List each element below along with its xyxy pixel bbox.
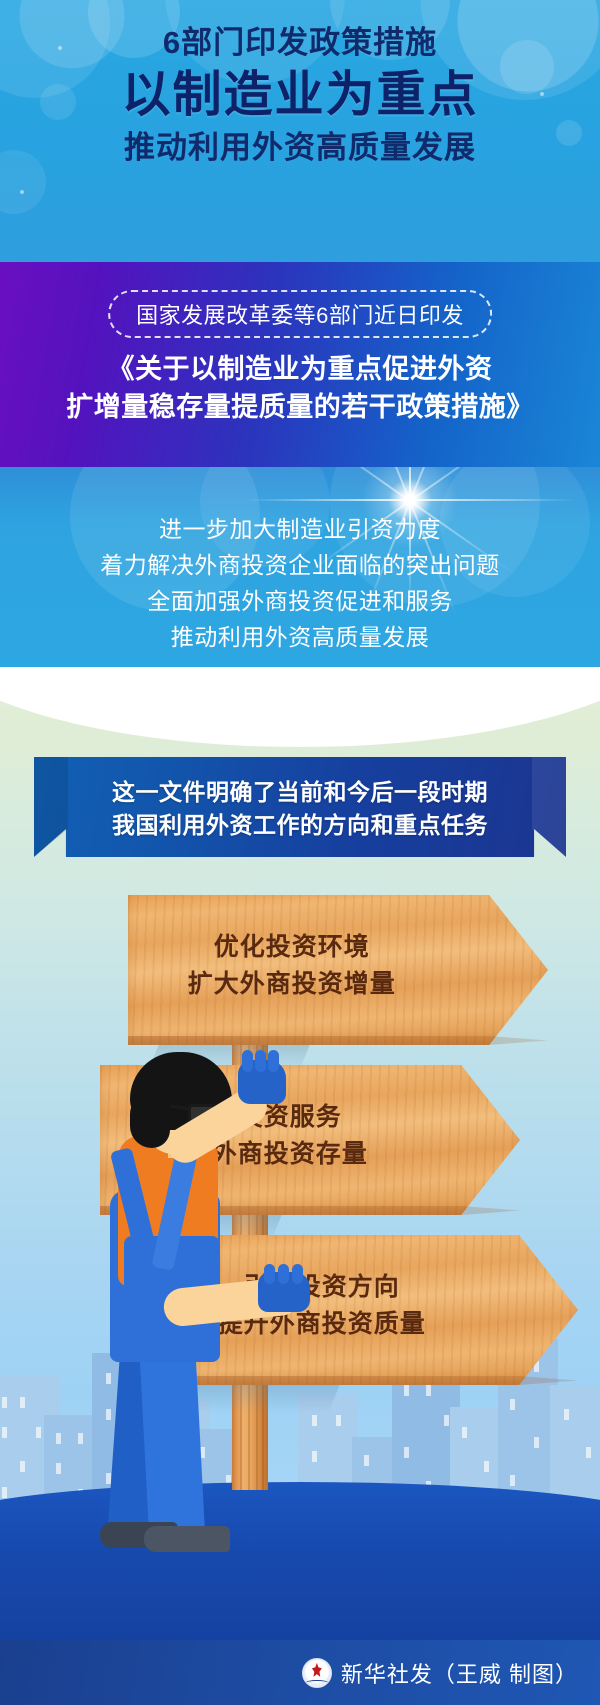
key-message-banner: 这一文件明确了当前和今后一段时期 我国利用外资工作的方向和重点任务 bbox=[34, 757, 566, 857]
sign-1-line2: 扩大外商投资增量 bbox=[128, 966, 456, 1003]
ribbon-line1: 这一文件明确了当前和今后一段时期 bbox=[34, 776, 566, 809]
worker-glove-lower bbox=[258, 1272, 310, 1312]
worker-shoe-front bbox=[144, 1526, 230, 1552]
objective-item: 进一步加大制造业引资力度 bbox=[0, 511, 600, 547]
document-title-line2: 扩增量稳存量提质量的若干政策措施》 bbox=[0, 388, 600, 426]
objective-item: 推动利用外资高质量发展 bbox=[0, 619, 600, 655]
arc-white bbox=[0, 667, 600, 747]
document-title-line1: 《关于以制造业为重点促进外资 bbox=[0, 350, 600, 388]
ribbon-line2: 我国利用外资工作的方向和重点任务 bbox=[34, 809, 566, 842]
xinhua-logo-icon bbox=[302, 1658, 332, 1688]
objectives-section: 进一步加大制造业引资力度 着力解决外商投资企业面临的突出问题 全面加强外商投资促… bbox=[0, 467, 600, 667]
document-section: 国家发展改革委等6部门近日印发 《关于以制造业为重点促进外资 扩增量稳存量提质量… bbox=[0, 262, 600, 467]
hero-section: 6部门印发政策措施 以制造业为重点 推动利用外资高质量发展 bbox=[0, 0, 600, 262]
worker-illustration bbox=[52, 1040, 282, 1550]
footer-bar: 新华社发（王威 制图） bbox=[0, 1640, 600, 1705]
hero-subhead: 推动利用外资高质量发展 bbox=[0, 129, 600, 168]
sign-1-line1: 优化投资环境 bbox=[128, 929, 456, 966]
footer-credit: 新华社发（王威 制图） bbox=[341, 1657, 578, 1689]
hero-headline: 以制造业为重点 bbox=[0, 67, 600, 123]
objective-item: 全面加强外商投资促进和服务 bbox=[0, 583, 600, 619]
objectives-list: 进一步加大制造业引资力度 着力解决外商投资企业面临的突出问题 全面加强外商投资促… bbox=[0, 511, 600, 655]
worker-glove-upper bbox=[238, 1060, 286, 1104]
infographic-poster: 6部门印发政策措施 以制造业为重点 推动利用外资高质量发展 国家发展改革委等6部… bbox=[0, 0, 600, 1705]
decorative-dot bbox=[20, 190, 24, 194]
sign-board-1[interactable]: 优化投资环境 扩大外商投资增量 bbox=[128, 895, 548, 1045]
document-title: 《关于以制造业为重点促进外资 扩增量稳存量提质量的若干政策措施》 bbox=[0, 350, 600, 427]
objective-item: 着力解决外商投资企业面临的突出问题 bbox=[0, 547, 600, 583]
hero-eyebrow: 6部门印发政策措施 bbox=[0, 24, 600, 63]
worker-leg-front bbox=[139, 1334, 206, 1542]
issuer-badge: 国家发展改革委等6部门近日印发 bbox=[108, 290, 492, 338]
worker-hair-side bbox=[130, 1094, 170, 1148]
